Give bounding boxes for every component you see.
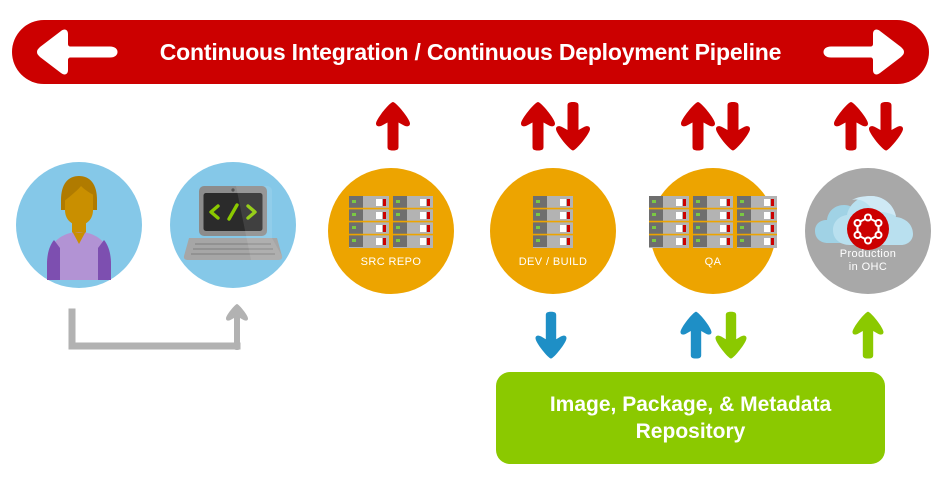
node-label-src-repo: SRC REPO: [328, 256, 454, 269]
diagram-canvas: Continuous Integration / Continuous Depl…: [0, 0, 941, 500]
arrow-down-red-icon: [553, 100, 593, 152]
arrow-up-red-icon: [831, 100, 871, 152]
arrow-left-icon: [34, 28, 120, 76]
repository-label: Image, Package, & Metadata Repository: [550, 391, 831, 445]
arrow-down-red-icon: [713, 100, 753, 152]
node-label-production-line2: in OHC: [805, 261, 931, 274]
node-dev-build[interactable]: DEV / BUILD: [490, 168, 616, 294]
pipeline-banner: Continuous Integration / Continuous Depl…: [12, 20, 929, 84]
node-label-qa: QA: [650, 256, 776, 269]
developer-to-laptop-connector: [60, 300, 260, 362]
cloud-openshift-icon: [814, 189, 922, 253]
server-rack-icon: [347, 196, 435, 250]
arrow-up-red-icon: [518, 100, 558, 152]
laptop-code-icon: [181, 184, 285, 266]
arrow-down-blue-icon: [533, 310, 569, 360]
node-laptop[interactable]: [170, 162, 296, 288]
arrow-up-red-icon: [678, 100, 718, 152]
repository-box[interactable]: Image, Package, & Metadata Repository: [496, 372, 885, 464]
arrow-up-blue-icon: [678, 310, 714, 360]
node-developer[interactable]: [16, 162, 142, 288]
repository-label-line1: Image, Package, & Metadata: [550, 391, 831, 418]
node-label-production-line1: Production: [805, 248, 931, 261]
arrow-right-icon: [821, 28, 907, 76]
node-label-dev-build: DEV / BUILD: [490, 256, 616, 269]
node-production[interactable]: Production in OHC: [805, 168, 931, 294]
arrow-up-green-icon: [850, 310, 886, 360]
arrow-down-red-icon: [866, 100, 906, 152]
arrow-up-red-icon: [373, 100, 413, 152]
node-src-repo[interactable]: SRC REPO: [328, 168, 454, 294]
arrow-down-green-icon: [713, 310, 749, 360]
server-rack-icon: [647, 196, 779, 250]
repository-label-line2: Repository: [550, 418, 831, 445]
page-title: Continuous Integration / Continuous Depl…: [160, 39, 782, 66]
node-qa[interactable]: QA: [650, 168, 776, 294]
person-icon: [31, 170, 127, 280]
server-rack-icon: [531, 196, 575, 250]
